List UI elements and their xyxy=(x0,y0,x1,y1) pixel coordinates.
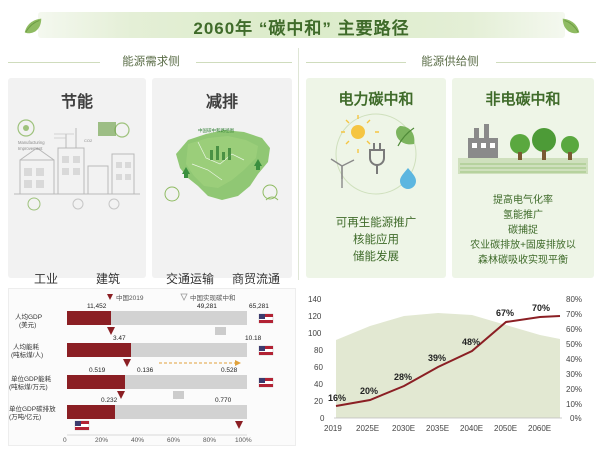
axis-tick: 20 xyxy=(314,397,323,406)
axis-tick: 2060E xyxy=(528,424,551,433)
data-label: 20% xyxy=(360,386,378,396)
panel-line: 可再生能源推广 xyxy=(306,215,446,232)
svg-text:中国碳中和路径图: 中国碳中和路径图 xyxy=(198,127,234,134)
chart-energy-trend: 140 120 100 80 60 40 20 0 80% 70% 60% 50… xyxy=(304,288,596,444)
panel-line: 核能应用 xyxy=(306,232,446,249)
axis-tick: 60% xyxy=(566,325,582,334)
panel-power-carbon-neutral: 电力碳中和 可再生能源 xyxy=(306,78,446,278)
data-label: 16% xyxy=(328,393,346,403)
category-label: 人均能耗 xyxy=(13,342,40,351)
icon-label: 工业 xyxy=(18,270,74,287)
axis-tick: 80% xyxy=(203,437,216,444)
panel-title: 非电碳中和 xyxy=(452,88,594,109)
data-label: 10.18 xyxy=(245,335,262,342)
data-label: 0.528 xyxy=(221,367,238,374)
data-label: 65,281 xyxy=(249,303,269,310)
category-label: (吨标煤/人) xyxy=(11,350,43,359)
legend-label-2: 中国实现碳中和 xyxy=(190,293,236,302)
axis-tick: 70% xyxy=(566,310,582,319)
category-label: (美元) xyxy=(19,320,36,329)
title-banner: 2060年 “碳中和” 主要路径 xyxy=(0,8,603,42)
data-label: 0.519 xyxy=(89,367,106,374)
axis-tick: 0% xyxy=(570,414,582,423)
panel-line: 碳捕捉 xyxy=(452,223,594,238)
divider xyxy=(496,62,596,63)
category-label: 单位GDP能耗 xyxy=(11,374,52,383)
page-title: 2060年 “碳中和” 主要路径 xyxy=(0,14,603,39)
axis-tick: 140 xyxy=(308,295,322,304)
data-label: 48% xyxy=(462,337,480,347)
panel-title: 减排 xyxy=(152,88,292,112)
data-label: 28% xyxy=(394,372,412,382)
axis-tick: 30% xyxy=(566,370,582,379)
data-label: 39% xyxy=(428,353,446,363)
divider xyxy=(306,62,406,63)
axis-tick: 60% xyxy=(167,437,180,444)
axis-tick: 2019 xyxy=(324,424,342,433)
data-label: 0.232 xyxy=(101,397,118,404)
axis-tick: 40 xyxy=(314,380,323,389)
svg-text:Manufacturing: Manufacturing xyxy=(18,140,45,145)
category-label: (吨标煤/万元) xyxy=(9,382,48,391)
icon-label: 商贸流通 xyxy=(224,270,288,287)
axis-tick: 100% xyxy=(235,437,252,444)
axis-tick: 120 xyxy=(308,312,322,321)
axis-tick: 100 xyxy=(308,329,322,338)
data-label: 0.770 xyxy=(215,397,232,404)
svg-text:CO2: CO2 xyxy=(84,138,93,143)
axis-tick: 2035E xyxy=(426,424,449,433)
axis-tick: 80% xyxy=(566,295,582,304)
icon-label: 交通运输 xyxy=(158,270,222,287)
axis-tick: 20% xyxy=(566,385,582,394)
panel-energy-saving: 节能 Man xyxy=(8,78,146,278)
panel-lines: 可再生能源推广 核能应用 储能发展 xyxy=(306,215,446,266)
axis-tick: 60 xyxy=(314,363,323,372)
category-label: 单位GDP碳排放 xyxy=(9,404,56,413)
panel-nonpower-carbon-neutral: 非电碳中和 提高电气化率 xyxy=(452,78,594,278)
category-label: 人均GDP xyxy=(15,312,42,321)
svg-text:Improvement: Improvement xyxy=(18,146,43,151)
axis-tick: 2030E xyxy=(392,424,415,433)
panel-line: 提高电气化率 xyxy=(452,193,594,208)
data-label: 11,452 xyxy=(87,303,107,310)
factory-illustration: Manufacturing Improvement CO2 xyxy=(14,114,140,214)
chart-comparison-bars: 中国2019 中国实现碳中和 人均GDP (美元) 11,452 49,281 … xyxy=(8,288,296,446)
axis-tick: 0 xyxy=(63,437,67,444)
panel-title: 电力碳中和 xyxy=(306,88,446,109)
icon-label: 建筑 xyxy=(80,270,136,287)
divider-vertical xyxy=(298,48,299,280)
category-label: (万吨/亿元) xyxy=(9,412,41,421)
panel-line: 森林碳吸收实现平衡 xyxy=(452,253,594,268)
panel-emission-reduction: 减排 中国碳中和路径图 交通运输 xyxy=(152,78,292,278)
data-label: 3.47 xyxy=(113,335,126,342)
axis-tick: 20% xyxy=(95,437,108,444)
axis-tick: 40% xyxy=(131,437,144,444)
axis-tick: 2025E xyxy=(356,424,379,433)
panel-line: 氢能推广 xyxy=(452,208,594,223)
data-label: 0.136 xyxy=(137,367,154,374)
divider xyxy=(8,62,100,63)
farm-forest-illustration xyxy=(458,112,588,174)
data-label: 49,281 xyxy=(197,303,217,310)
divider xyxy=(196,62,292,63)
axis-tick: 40% xyxy=(566,355,582,364)
axis-tick: 50% xyxy=(566,340,582,349)
axis-tick: 2050E xyxy=(494,424,517,433)
china-map-illustration: 中国碳中和路径图 xyxy=(158,114,286,214)
data-label: 67% xyxy=(496,308,514,318)
axis-tick: 0 xyxy=(320,414,325,423)
axis-tick: 2040E xyxy=(460,424,483,433)
axis-tick: 80 xyxy=(314,346,323,355)
panel-lines: 提高电气化率 氢能推广 碳捕捉 农业碳排放+固废排放以 森林碳吸收实现平衡 xyxy=(452,193,594,268)
axis-tick: 10% xyxy=(566,400,582,409)
renewable-illustration xyxy=(312,110,440,202)
panel-line: 农业碳排放+固废排放以 xyxy=(452,238,594,253)
panel-line: 储能发展 xyxy=(306,249,446,266)
data-label: 70% xyxy=(532,303,550,313)
legend-label-1: 中国2019 xyxy=(116,293,144,302)
panel-title: 节能 xyxy=(8,88,146,112)
